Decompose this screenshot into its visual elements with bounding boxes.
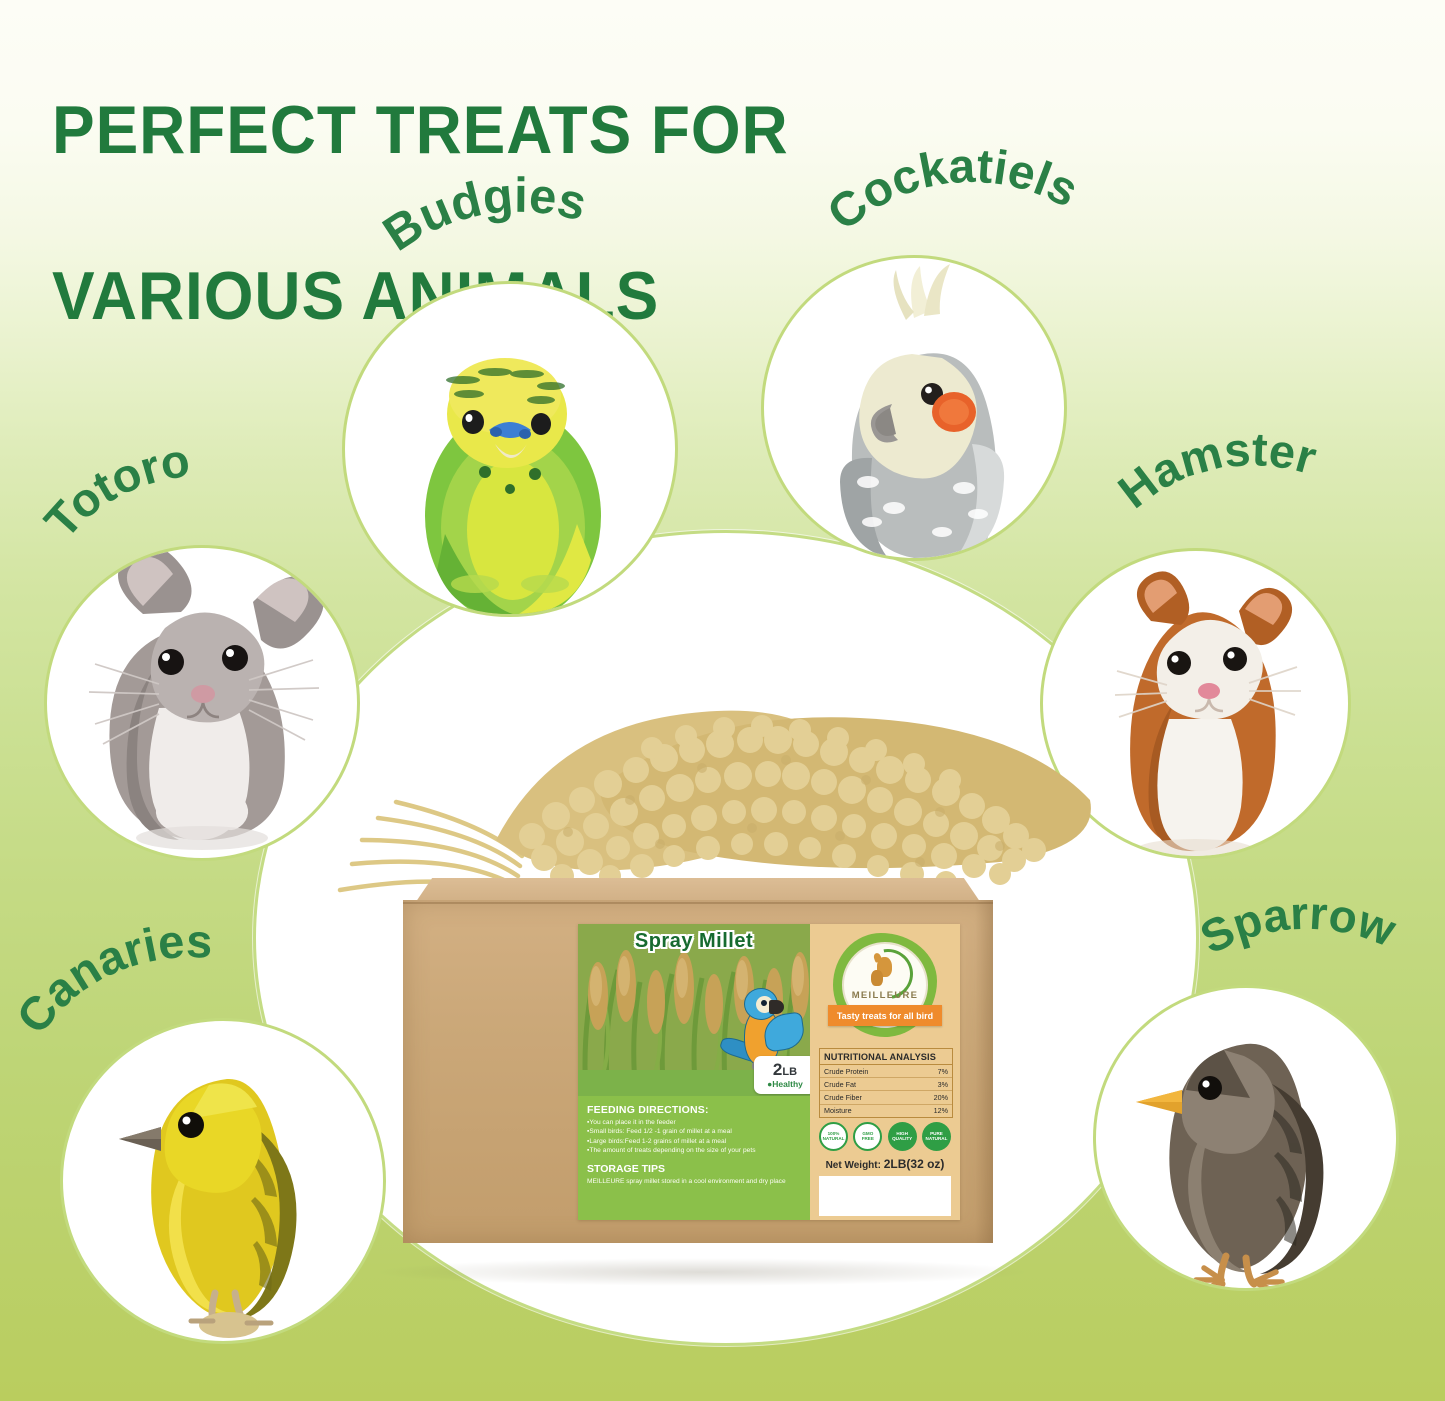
feeding-heading: FEEDING DIRECTIONS:	[587, 1104, 801, 1116]
label-hero-photo: Spray Millet 2LB ●Healthy	[578, 924, 810, 1096]
nutrient-value: 12%	[912, 1104, 952, 1117]
nutrient-name: Crude Fiber	[820, 1091, 912, 1104]
seal-ribbon-text: Tasty treats for all bird	[837, 1011, 933, 1021]
budgerigar-parakeet-icon	[345, 284, 675, 614]
animal-circle-sparrow[interactable]	[1093, 985, 1399, 1291]
weight-badge-unit: LB	[782, 1066, 797, 1078]
cockatiel-bird-icon	[764, 258, 1064, 558]
nutrition-table: NUTRITIONAL ANALYSIS Crude Protein 7% Cr…	[819, 1048, 953, 1118]
net-weight: Net Weight: 2LB(32 oz)	[819, 1157, 951, 1171]
feeding-directions-block: FEEDING DIRECTIONS: ▪You can place it in…	[578, 1096, 810, 1220]
brand-seal: MEILLEURE Tasty treats for all bird	[833, 933, 937, 1037]
carton-seam	[403, 902, 993, 904]
storage-heading: STORAGE TIPS	[587, 1163, 801, 1175]
natural-certification-icon: 100% NATURAL	[819, 1122, 848, 1151]
sparrow-bird-icon	[1096, 988, 1396, 1288]
page-title-line-1: PERFECT TREATS FOR	[52, 89, 992, 172]
nutrient-name: Crude Fat	[820, 1078, 912, 1091]
nutrient-name: Crude Protein	[820, 1065, 912, 1078]
eco-certification-icon: HIGH QUALITY	[888, 1122, 917, 1151]
svg-text:Sparrow: Sparrow	[1192, 887, 1403, 964]
leaf-certification-icon: PURE NATURAL	[922, 1122, 951, 1151]
label-left-column: Spray Millet 2LB ●Healthy FEEDING DIRECT…	[578, 924, 810, 1220]
svg-text:Totoro: Totoro	[34, 433, 193, 548]
label-hero-title: Spray Millet	[578, 930, 810, 953]
svg-text:Hamster: Hamster	[1108, 422, 1322, 518]
nutrition-heading: NUTRITIONAL ANALYSIS	[820, 1049, 952, 1065]
feeding-item: ▪Small birds: Feed 1/2 -1 grain of mille…	[587, 1128, 801, 1135]
feeding-item: ▪Large birds:Feed 1-2 grains of millet a…	[587, 1138, 801, 1145]
label-blank-panel	[819, 1176, 951, 1216]
product-carton: Spray Millet 2LB ●Healthy FEEDING DIRECT…	[403, 878, 993, 1243]
carton-side-shading	[975, 900, 993, 1243]
nutrient-value: 3%	[912, 1078, 952, 1091]
weight-badge: 2LB ●Healthy	[754, 1056, 810, 1094]
table-row: Moisture 12%	[820, 1104, 952, 1117]
label-right-column: MEILLEURE Tasty treats for all bird NUTR…	[810, 924, 960, 1220]
seal-ribbon: Tasty treats for all bird	[828, 1005, 942, 1026]
nutrient-value: 7%	[912, 1065, 952, 1078]
animal-label-hamster: Hamster	[1104, 448, 1404, 568]
animal-circle-budgies[interactable]	[342, 281, 678, 617]
table-row: Crude Protein 7%	[820, 1065, 952, 1078]
certification-badges: 100% NATURAL GMO FREE HIGH QUALITY PURE …	[819, 1122, 951, 1151]
weight-badge-amount: 2	[773, 1060, 782, 1079]
feeding-item: ▪The amount of treats depending on the s…	[587, 1147, 801, 1154]
nutrient-name: Moisture	[820, 1104, 912, 1117]
animal-circle-cockatiels[interactable]	[761, 255, 1067, 561]
dog-cat-icon	[871, 957, 899, 987]
storage-text: MEILLEURE spray millet stored in a cool …	[587, 1178, 801, 1185]
infographic-canvas: PERFECT TREATS FOR VARIOUS ANIMALS	[0, 0, 1445, 1401]
weight-badge-tag: Healthy	[772, 1079, 803, 1089]
product-group: Spray Millet 2LB ●Healthy FEEDING DIRECT…	[300, 640, 1100, 1280]
net-weight-label: Net Weight:	[826, 1160, 881, 1171]
product-label: Spray Millet 2LB ●Healthy FEEDING DIRECT…	[578, 924, 960, 1220]
feeding-item: ▪You can place it in the feeder	[587, 1119, 801, 1126]
brand-name: MEILLEURE	[833, 990, 937, 1001]
table-row: Crude Fat 3%	[820, 1078, 952, 1091]
nutrient-value: 20%	[912, 1091, 952, 1104]
gmo-free-certification-icon: GMO FREE	[853, 1122, 882, 1151]
table-row: Crude Fiber 20%	[820, 1091, 952, 1104]
net-weight-value: 2LB(32 oz)	[884, 1157, 945, 1171]
carton-drop-shadow	[372, 1258, 1032, 1286]
